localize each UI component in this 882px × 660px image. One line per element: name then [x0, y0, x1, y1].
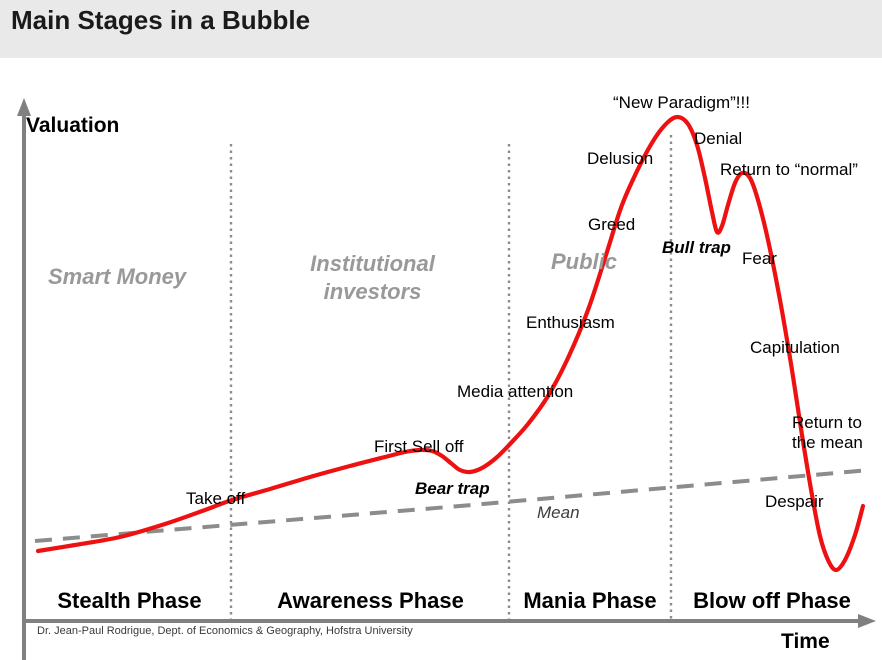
chart-area: Valuation Time Smart Money Institutional…	[0, 58, 882, 660]
phase-dividers	[231, 135, 671, 619]
annotation-despair: Despair	[765, 492, 824, 511]
stage-label-smart-money: Smart Money	[48, 265, 186, 290]
credit-line: Dr. Jean-Paul Rodrigue, Dept. of Economi…	[37, 625, 413, 637]
annotation-mean: Mean	[537, 503, 580, 522]
annotation-bear-trap: Bear trap	[415, 479, 490, 498]
annotation-fear: Fear	[742, 249, 777, 268]
stage-label-public: Public	[551, 250, 617, 275]
annotation-first-sell-off: First Sell off	[374, 437, 463, 456]
annotation-return-to-the-mean-line-2: the mean	[792, 433, 882, 453]
bubble-curve-svg	[0, 58, 882, 660]
stage-label-institutional-line-2: investors	[245, 278, 500, 306]
annotation-new-paradigm: “New Paradigm”!!!	[613, 93, 750, 112]
phase-label-blowoff: Blow off Phase	[677, 589, 867, 614]
annotation-bull-trap: Bull trap	[662, 238, 731, 257]
x-axis-label: Time	[781, 630, 830, 654]
annotation-denial: Denial	[694, 129, 742, 148]
y-axis	[17, 98, 31, 660]
phase-label-mania: Mania Phase	[515, 589, 665, 614]
bubble-valuation-curve	[38, 117, 863, 570]
annotation-enthusiasm: Enthusiasm	[526, 313, 615, 332]
annotation-greed: Greed	[588, 215, 635, 234]
annotation-media-attention: Media attention	[457, 382, 573, 401]
phase-label-stealth: Stealth Phase	[32, 589, 227, 614]
annotation-take-off: Take off	[186, 489, 245, 508]
annotation-capitulation: Capitulation	[750, 338, 840, 357]
bubble-stages-infographic: Main Stages in a Bubble	[0, 0, 882, 660]
stage-label-institutional-investors: Institutional investors	[245, 250, 500, 305]
y-axis-label: Valuation	[26, 114, 119, 138]
page-title: Main Stages in a Bubble	[11, 5, 310, 36]
annotation-return-to-normal: Return to “normal”	[720, 160, 858, 179]
phase-label-awareness: Awareness Phase	[238, 589, 503, 614]
stage-label-institutional-line-1: Institutional	[245, 250, 500, 278]
annotation-return-to-the-mean-line-1: Return to	[792, 413, 882, 433]
annotation-delusion: Delusion	[587, 149, 653, 168]
annotation-return-to-the-mean: Return to the mean	[792, 413, 882, 454]
